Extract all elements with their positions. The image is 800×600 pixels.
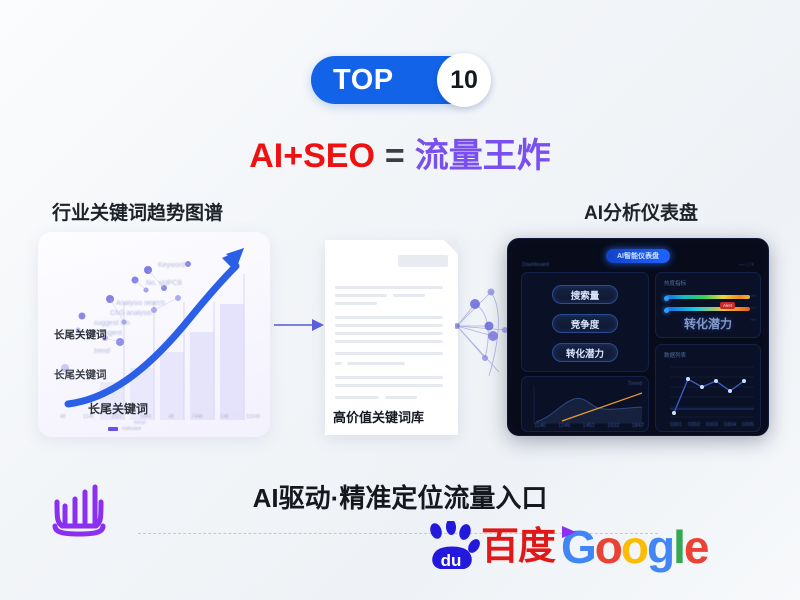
document-header-block <box>398 255 448 267</box>
baidu-paw-icon: du <box>424 521 480 573</box>
baidu-wordmark-du: du <box>441 551 462 570</box>
metrics-panel: 搜索量 竞争度 转化潜力 <box>521 272 649 372</box>
axis-tick-0: 48 <box>60 414 66 420</box>
google-letter-e: e <box>684 521 708 573</box>
baidu-logo: du 百度 <box>424 521 555 573</box>
baidu-logo-text: 百度 <box>481 528 555 566</box>
area-tick-1: 1245 <box>558 423 570 429</box>
google-letter-o2: o <box>621 521 647 573</box>
top-badge-rank-circle: 10 <box>437 53 491 107</box>
document-text-line <box>335 316 443 319</box>
section-label-right: AI分析仪表盘 <box>584 198 698 225</box>
top-badge-label: TOP <box>333 64 394 97</box>
heat-bar-dot-1 <box>664 296 669 301</box>
keyword-trend-chart-card: Keyword No. sldPCB Analysis search ChG a… <box>38 232 270 437</box>
heat-gradient-bar-2 <box>666 307 750 311</box>
chart-legend: Indicator <box>108 426 141 432</box>
chart-blur-label-2: Analysis search <box>116 300 165 307</box>
document-text-line <box>347 362 405 365</box>
document-text-line <box>335 340 443 343</box>
page-title: AI+SEO=流量王炸 <box>0 128 800 177</box>
line-chart-svg <box>656 345 762 433</box>
keyword-label-1: 长尾关键词 <box>54 367 107 382</box>
line-tick-1: 0302 <box>688 422 700 428</box>
line-tick-4: 0305 <box>742 422 754 428</box>
document-text-line <box>335 294 387 297</box>
keyword-network-graph <box>455 272 515 389</box>
document-text-line <box>335 302 377 305</box>
document-text-line <box>335 384 443 387</box>
area-tick-4: 1847 <box>632 423 644 429</box>
area-tick-0: 1140 <box>534 423 546 429</box>
legend-swatch-icon <box>108 427 118 431</box>
heat-legend-1: — <box>751 305 757 311</box>
chart-blur-label-0: Keyword <box>158 262 185 269</box>
chart-blur-label-4: suggest On <box>94 320 130 327</box>
chart-blur-label-3: ChG analysis <box>110 310 152 317</box>
axis-tick-4: 48 <box>169 414 175 420</box>
document-text-line <box>335 396 379 399</box>
top-badge-rank-number: 10 <box>450 66 478 95</box>
data-list-panel: 数据列表 0301 <box>655 344 761 432</box>
heat-legend-0: — <box>751 293 757 299</box>
area-tick-3: 1632 <box>607 423 619 429</box>
bottom-tagline: AI驱动·精准定位流量入口 <box>0 478 800 515</box>
heat-gradient-bar-1 <box>666 295 750 299</box>
cursor-pointer-icon <box>560 524 580 545</box>
axis-tick-5: 7448 <box>192 414 203 420</box>
axis-tick-6: 148 <box>220 414 228 420</box>
google-logo: Google <box>561 524 707 570</box>
conversion-overlay-text: 转化潜力 <box>684 315 732 332</box>
document-fold-corner-icon <box>444 240 458 254</box>
chart-inner: Keyword No. sldPCB Analysis search ChG a… <box>38 232 270 437</box>
dashboard-caption: Dashboard <box>522 262 549 268</box>
dashboard-window-controls-icon: — □ × <box>739 262 754 268</box>
title-operator: = <box>385 137 405 175</box>
area-tick-2: 1452 <box>583 423 595 429</box>
heat-bar-dot-2 <box>664 308 669 313</box>
axis-tick-7: 10240 <box>246 414 260 420</box>
title-traffic-bomb: 流量王炸 <box>415 137 551 175</box>
legend-label: Indicator <box>122 426 141 432</box>
heat-index-title: 热度指标 <box>664 279 686 287</box>
ai-analytics-dashboard: AI智能仪表盘 Dashboard — □ × 搜索量 竞争度 转化潜力 Tre… <box>507 238 769 436</box>
metric-pill-search-volume[interactable]: 搜索量 <box>552 285 618 304</box>
chart-blur-label-6: trend <box>94 348 110 355</box>
metric-pill-conversion[interactable]: 转化潜力 <box>552 343 618 362</box>
line-tick-2: 0303 <box>706 422 718 428</box>
document-text-line <box>335 352 443 355</box>
document-text-line <box>335 286 443 289</box>
axis-tick-1: 1140 <box>83 414 94 420</box>
chart-x-axis: 48 1140 2021 1844 48 7448 148 10240 <box>60 414 260 420</box>
section-label-left: 行业关键词趋势图谱 <box>52 198 223 225</box>
document-text-line <box>335 362 342 365</box>
document-title: 高价值关键词库 <box>333 407 424 426</box>
document-text-line <box>385 396 417 399</box>
axis-tick-2: 2021 <box>111 414 122 420</box>
metric-pill-competition[interactable]: 竞争度 <box>552 314 618 333</box>
title-ai-seo: AI+SEO <box>249 137 375 175</box>
top-rank-badge: TOP 10 <box>311 56 489 104</box>
dashboard-inner: AI智能仪表盘 Dashboard — □ × 搜索量 竞争度 转化潜力 Tre… <box>513 244 763 430</box>
google-letter-g2: g <box>647 521 673 573</box>
flow-arrow-icon <box>274 318 324 337</box>
area-chart-panel: Trend 1140 1245 1452 1632 1847 <box>521 376 649 432</box>
google-letter-o1: o <box>595 521 621 573</box>
document-text-line <box>335 376 443 379</box>
heat-index-panel: 热度指标 Alert 转化潜力 — — — <box>655 272 761 338</box>
line-tick-0: 0301 <box>670 422 682 428</box>
document-text-line <box>335 324 443 327</box>
keyword-library-document: 高价值关键词库 <box>325 240 458 435</box>
document-text-line <box>393 294 425 297</box>
chart-blur-label-1: No. sldPCB <box>146 280 182 287</box>
line-tick-3: 0304 <box>724 422 736 428</box>
google-letter-l: l <box>673 521 684 573</box>
keyword-label-0: 长尾关键词 <box>54 327 107 342</box>
dashboard-header-badge: AI智能仪表盘 <box>606 249 670 263</box>
alert-tag: Alert <box>720 302 735 309</box>
document-text-line <box>335 332 443 335</box>
heat-legend-2: — <box>751 317 757 323</box>
